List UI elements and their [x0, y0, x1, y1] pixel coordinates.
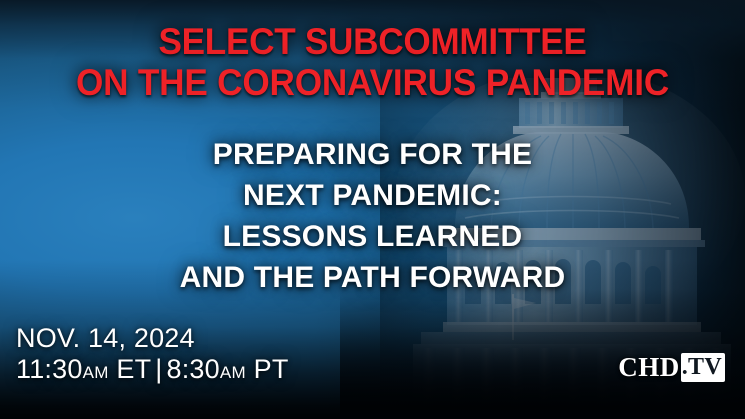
- subheadline-line-1: PREPARING FOR THE: [0, 134, 745, 175]
- time-pt-zone: PT: [254, 354, 289, 384]
- logo-tv-badge: .TV: [681, 353, 725, 382]
- announcement-graphic: SELECT SUBCOMMITTEE ON THE CORONAVIRUS P…: [0, 0, 745, 419]
- subheadline-line-4: AND THE PATH FORWARD: [0, 257, 745, 298]
- time-pt-value: 8:30: [167, 354, 220, 384]
- time-et-value: 11:30: [16, 354, 83, 384]
- subheadline-line-2: NEXT PANDEMIC:: [0, 175, 745, 216]
- time-et-zone: ET: [116, 354, 151, 384]
- subheadline: PREPARING FOR THE NEXT PANDEMIC: LESSONS…: [0, 134, 745, 298]
- headline-line-1: SELECT SUBCOMMITTEE: [19, 21, 727, 62]
- headline-line-2: ON THE CORONAVIRUS PANDEMIC: [19, 62, 727, 103]
- subheadline-line-3: LESSONS LEARNED: [0, 216, 745, 257]
- headline: SELECT SUBCOMMITTEE ON THE CORONAVIRUS P…: [19, 21, 727, 103]
- time-et-meridiem: AM: [83, 363, 109, 382]
- schedule-block: NOV. 14, 2024 11:30AM ET|8:30AM PT: [16, 323, 289, 389]
- logo-wordmark: CHD: [618, 354, 681, 381]
- time-pt-meridiem: AM: [220, 363, 246, 382]
- time-separator: |: [151, 354, 166, 384]
- event-date: NOV. 14, 2024: [16, 323, 289, 353]
- chdtv-logo[interactable]: CHD .TV: [618, 353, 725, 382]
- event-times: 11:30AM ET|8:30AM PT: [16, 353, 289, 389]
